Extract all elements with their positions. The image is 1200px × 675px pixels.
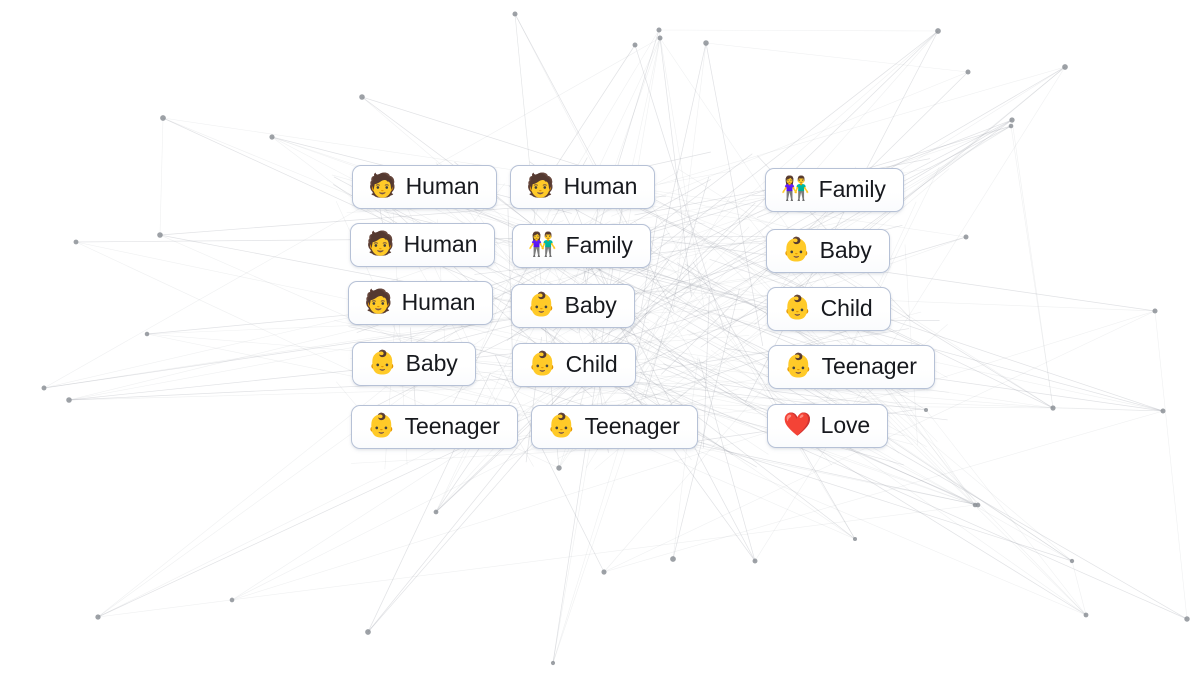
element-card-label: Baby xyxy=(820,237,872,264)
element-card-label: Child xyxy=(566,351,618,378)
element-card-label: Teenager xyxy=(585,413,680,440)
baby-emoji: 👶 xyxy=(368,352,397,375)
red-heart-emoji: ❤️ xyxy=(783,414,812,437)
element-card-baby[interactable]: 👶Baby xyxy=(352,342,476,386)
element-card-family[interactable]: 👫Family xyxy=(765,168,904,212)
element-card-label: Love xyxy=(821,412,870,439)
element-card-board[interactable]: 🧑Human🧑Human🧑Human👶Baby👶Teenager🧑Human👫F… xyxy=(0,0,1200,675)
element-card-human[interactable]: 🧑Human xyxy=(348,281,493,325)
element-card-label: Human xyxy=(564,173,638,200)
baby-emoji: 👶 xyxy=(547,415,576,438)
baby-emoji: 👶 xyxy=(784,355,813,378)
family-couple-emoji: 👫 xyxy=(781,178,810,201)
element-card-label: Human xyxy=(404,231,478,258)
element-card-child[interactable]: 👶Child xyxy=(512,343,636,387)
craft-game-canvas[interactable]: 🧑Human🧑Human🧑Human👶Baby👶Teenager🧑Human👫F… xyxy=(0,0,1200,675)
element-card-label: Child xyxy=(821,295,873,322)
element-card-human[interactable]: 🧑Human xyxy=(352,165,497,209)
person-emoji: 🧑 xyxy=(368,175,397,198)
baby-emoji: 👶 xyxy=(528,353,557,376)
person-emoji: 🧑 xyxy=(366,233,395,256)
element-card-label: Teenager xyxy=(822,353,917,380)
element-card-label: Baby xyxy=(565,292,617,319)
element-card-love[interactable]: ❤️Love xyxy=(767,404,888,448)
baby-emoji: 👶 xyxy=(783,297,812,320)
element-card-human[interactable]: 🧑Human xyxy=(510,165,655,209)
element-card-teenager[interactable]: 👶Teenager xyxy=(531,405,698,449)
person-emoji: 🧑 xyxy=(526,175,555,198)
element-card-label: Family xyxy=(819,176,886,203)
baby-emoji: 👶 xyxy=(782,239,811,262)
baby-emoji: 👶 xyxy=(527,294,556,317)
element-card-label: Teenager xyxy=(405,413,500,440)
element-card-label: Human xyxy=(406,173,480,200)
element-card-baby[interactable]: 👶Baby xyxy=(766,229,890,273)
element-card-family[interactable]: 👫Family xyxy=(512,224,651,268)
element-card-human[interactable]: 🧑Human xyxy=(350,223,495,267)
element-card-baby[interactable]: 👶Baby xyxy=(511,284,635,328)
element-card-teenager[interactable]: 👶Teenager xyxy=(351,405,518,449)
family-couple-emoji: 👫 xyxy=(528,234,557,257)
element-card-label: Family xyxy=(566,232,633,259)
baby-emoji: 👶 xyxy=(367,415,396,438)
element-card-child[interactable]: 👶Child xyxy=(767,287,891,331)
person-emoji: 🧑 xyxy=(364,291,393,314)
element-card-label: Baby xyxy=(406,350,458,377)
element-card-label: Human xyxy=(402,289,476,316)
element-card-teenager[interactable]: 👶Teenager xyxy=(768,345,935,389)
